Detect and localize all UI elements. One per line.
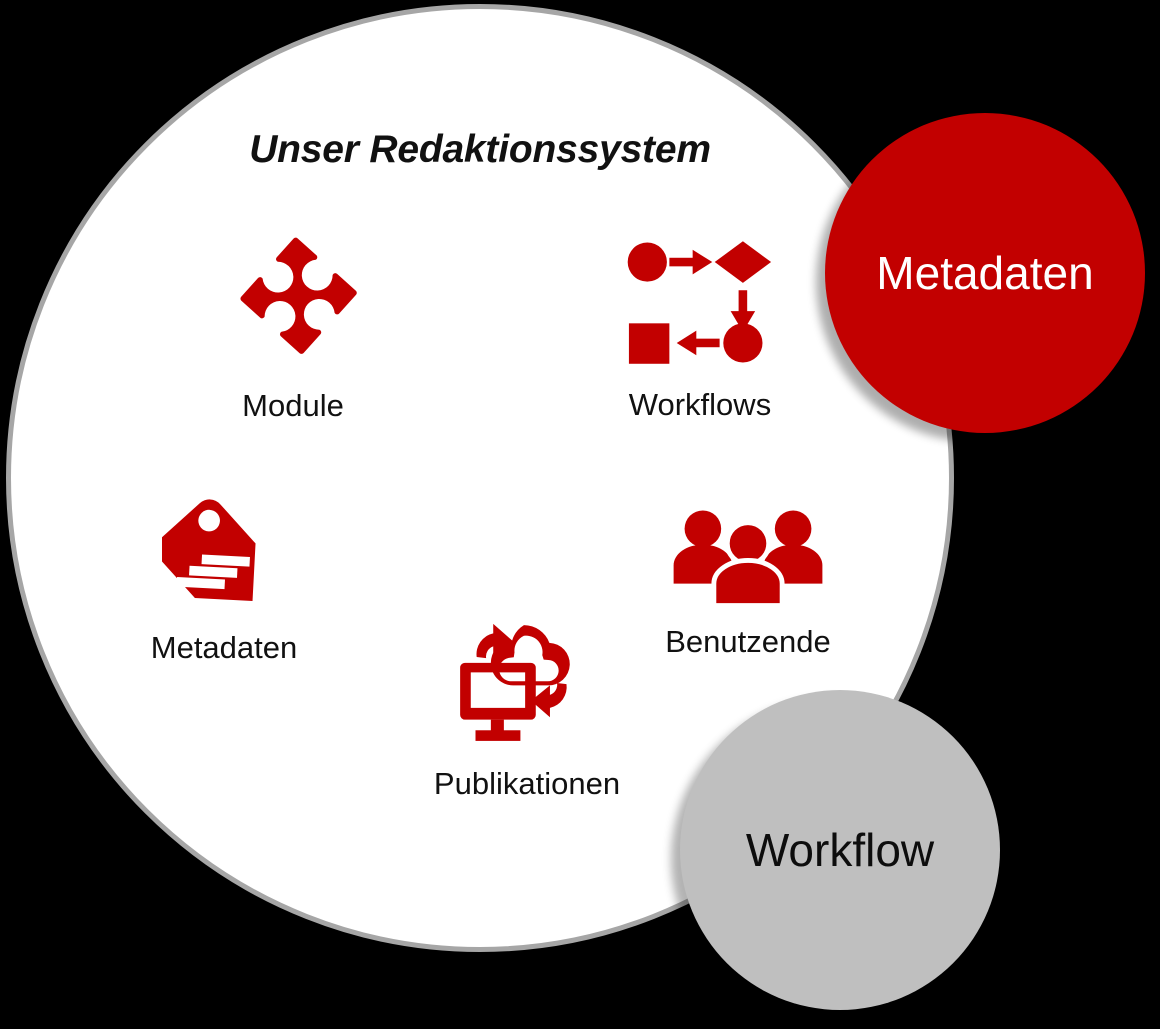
diagram-title: Unser Redaktionssystem	[0, 128, 960, 172]
cloud-sync-monitor-icon	[455, 618, 600, 748]
bubble-metadaten[interactable]: Metadaten	[825, 113, 1145, 433]
diagram-canvas: Unser Redaktionssystem Module	[0, 0, 1160, 1029]
bubble-label-metadaten: Metadaten	[876, 250, 1093, 296]
feature-item-publikationen[interactable]: Publikationen	[382, 618, 672, 801]
flowchart-icon	[626, 240, 774, 365]
feature-label-metadaten: Metadaten	[100, 632, 348, 665]
users-group-icon	[668, 508, 828, 608]
feature-item-module[interactable]: Module	[168, 232, 418, 423]
feature-item-workflows[interactable]: Workflows	[570, 240, 830, 422]
feature-label-workflows: Workflows	[570, 389, 830, 422]
tag-icon	[162, 492, 287, 612]
feature-label-module: Module	[168, 390, 418, 423]
puzzle-piece-icon	[223, 232, 363, 372]
bubble-label-workflow: Workflow	[746, 827, 934, 873]
feature-label-publikationen: Publikationen	[382, 768, 672, 801]
bubble-workflow[interactable]: Workflow	[680, 690, 1000, 1010]
feature-item-metadaten[interactable]: Metadaten	[100, 492, 348, 665]
